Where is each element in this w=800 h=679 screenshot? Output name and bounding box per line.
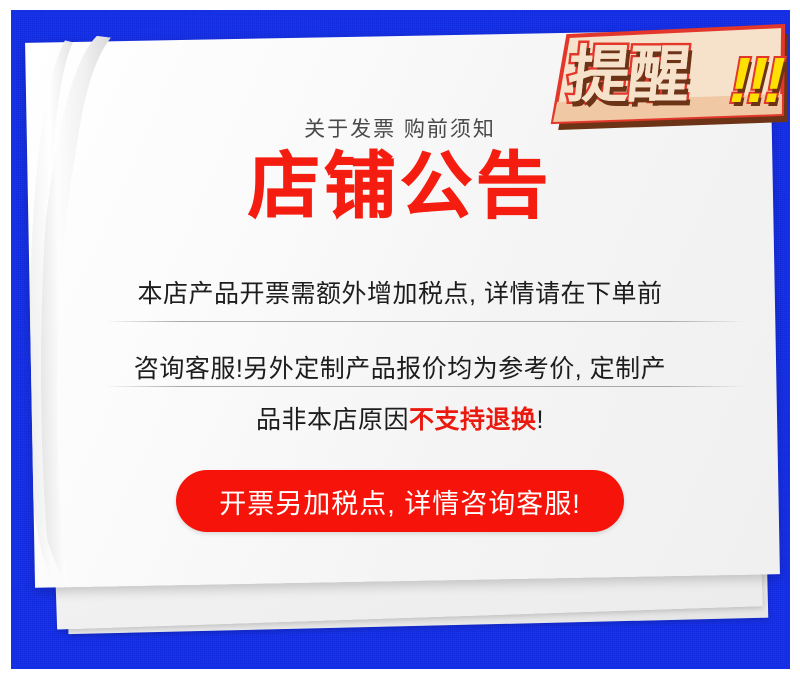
body-line-2: 咨询客服!另外定制产品报价均为参考价, 定制产 [0, 349, 800, 385]
cta-label: 开票另加税点, 详情咨询客服! [219, 482, 581, 521]
divider-1 [105, 321, 745, 322]
body-line-3-highlight: 不支持退换 [409, 406, 537, 434]
reminder-badge: 提醒 提醒 !!! [548, 18, 800, 138]
badge-text: 提醒 [565, 44, 692, 108]
body-line-3-suffix: ! [537, 406, 544, 434]
body-line-3-prefix: 品非本店原因 [256, 406, 409, 434]
poster-headline: 店铺公告 [0, 148, 800, 226]
poster-canvas: 关于发票 购前须知 店铺公告 本店产品开票需额外增加税点, 详情请在下单前 咨询… [0, 0, 800, 679]
contact-service-cta-button[interactable]: 开票另加税点, 详情咨询客服! [176, 470, 624, 532]
body-line-1: 本店产品开票需额外增加税点, 详情请在下单前 [0, 274, 800, 310]
body-line-3: 品非本店原因不支持退换! [0, 400, 800, 436]
divider-2 [105, 386, 745, 387]
